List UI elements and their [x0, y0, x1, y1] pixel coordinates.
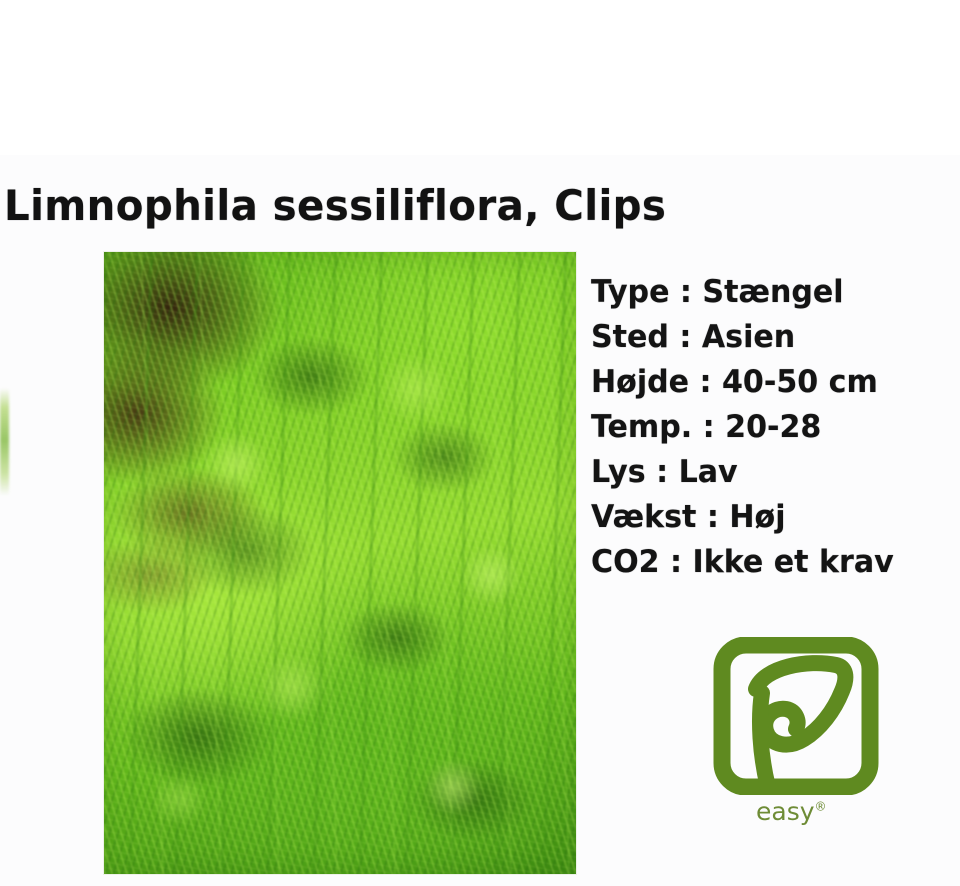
spec-row-lys: Lys : Lav	[591, 450, 948, 495]
easy-logo-caption: easy®	[756, 797, 827, 826]
product-info-card: Limnophila sessiliflora, Clips Type : St…	[0, 0, 960, 886]
plant-photo	[104, 252, 576, 874]
spec-row-type: Type : Stængel	[591, 270, 948, 315]
easy-logo-wordmark: easy	[756, 797, 815, 826]
photo-vignette	[104, 252, 576, 874]
page-title: Limnophila sessiliflora, Clips	[4, 181, 666, 230]
easy-leaf-icon	[712, 637, 880, 795]
spec-row-sted: Sted : Asien	[591, 315, 948, 360]
registered-trademark-icon: ®	[815, 800, 827, 814]
spec-row-co2: CO2 : Ikke et krav	[591, 540, 948, 585]
spec-list: Type : Stængel Sted : Asien Højde : 40-5…	[591, 270, 959, 585]
spec-row-hojde: Højde : 40-50 cm	[591, 360, 948, 405]
easy-logo: easy®	[712, 637, 884, 835]
spec-row-vaekst: Vækst : Høj	[591, 495, 948, 540]
left-edge-green-artifact	[0, 388, 9, 496]
spec-row-temp: Temp. : 20-28	[591, 405, 948, 450]
